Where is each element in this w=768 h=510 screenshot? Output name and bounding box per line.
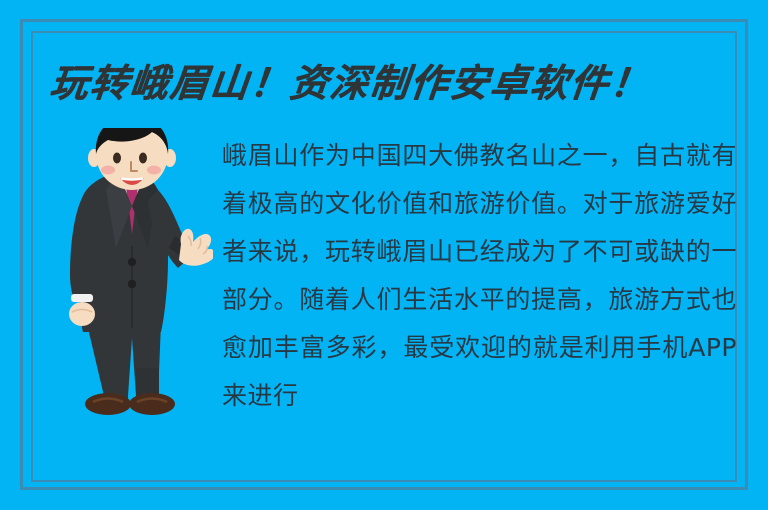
eye-right bbox=[139, 153, 147, 164]
open-hand-right bbox=[179, 229, 213, 266]
jacket-button-top bbox=[128, 258, 136, 266]
jacket-button-bottom bbox=[128, 280, 136, 288]
body-paragraph: 峨眉山作为中国四大佛教名山之一，自古就有着极高的文化价值和旅游价值。对于旅游爱好… bbox=[222, 132, 737, 422]
blush-left bbox=[101, 166, 115, 175]
fist-left bbox=[69, 302, 95, 326]
shoe-left bbox=[85, 393, 131, 415]
teeth bbox=[121, 179, 143, 180]
businessman-illustration bbox=[48, 128, 213, 424]
poster-canvas: 玩转峨眉山！资深制作安卓软件！ 峨眉山作为中国四大佛教名山之一，自古就有着极高的… bbox=[0, 0, 768, 510]
eye-left bbox=[113, 153, 121, 164]
cuff-left bbox=[71, 294, 93, 302]
shoe-right bbox=[129, 393, 175, 415]
blush-right bbox=[147, 166, 161, 175]
page-title: 玩转峨眉山！资深制作安卓软件！ bbox=[47, 55, 713, 111]
